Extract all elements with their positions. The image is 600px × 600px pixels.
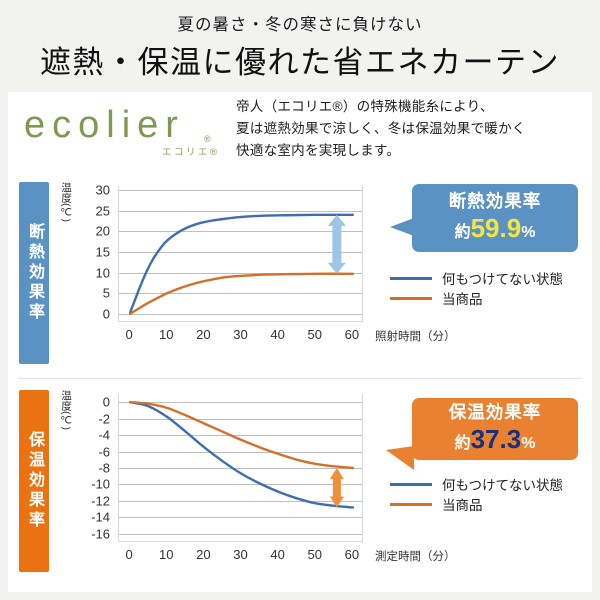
badge-pointer-icon [390,218,414,236]
legend-line-baseline-icon [390,483,432,486]
ecolier-logo: ecolier ® エコリエ® [22,100,227,160]
y-tick-label: -10 [76,477,110,492]
x-tick-label: 20 [196,547,210,562]
panel-insulation: 断熱効果率 温度(℃) 051015202530 0102030405060 照… [8,176,592,372]
x-tick-label: 10 [159,547,173,562]
insulation-y-ticks: 051015202530 [74,176,110,372]
y-tick-label: -2 [76,411,110,426]
brand-description-line-1: 帝人（エコリエ®）の特殊機能糸により、 [236,96,586,118]
panel-divider [18,378,582,379]
logo-registered-mark: ® [204,134,211,144]
x-tick-label: 50 [308,327,322,342]
y-tick-label: 30 [76,183,110,198]
legend-item-baseline: 何もつけてない状態 [390,268,563,288]
series-line [130,215,353,313]
brand-description-line-3: 快適な室内を実現します。 [236,140,586,162]
retention-y-ticks: 0-2-4-6-8-10-12-14-16 [74,384,110,580]
difference-arrow-icon [328,215,346,274]
legend-label-baseline: 何もつけてない状態 [442,474,563,494]
insulation-x-axis-title: 照射時間（分） [375,328,456,344]
page-title: 遮熱・保温に優れた省エネカーテン [40,37,560,82]
panel-retention: 保温効果率 温度(℃) 0-2-4-6-8-10-12-14-16 010203… [8,384,592,580]
y-tick-label: -14 [76,510,110,525]
tab-retention-label: 保温効果率 [26,431,42,531]
insulation-badge-prefix: 約 [455,224,471,241]
x-tick-label: 40 [270,547,284,562]
retention-x-axis-title: 測定時間（分） [375,548,456,564]
retention-x-ticks: 0102030405060 [118,547,363,565]
y-tick-label: 0 [76,395,110,410]
y-tick-label: 15 [76,244,110,259]
x-tick-label: 10 [159,327,173,342]
series-canvas [119,186,364,322]
legend-label-product: 当商品 [442,288,483,308]
retention-plot [118,394,363,542]
series-canvas [119,394,364,542]
retention-chart-area: 温度(℃) 0-2-4-6-8-10-12-14-16 010203040506… [60,384,592,580]
tab-insulation-label: 断熱効果率 [26,223,42,323]
legend-item-baseline: 何もつけてない状態 [390,474,563,494]
y-tick-label: -4 [76,428,110,443]
insulation-chart-area: 温度(℃) 051015202530 0102030405060 照射時間（分）… [60,176,592,372]
legend-line-baseline-icon [390,277,432,280]
insulation-badge: 断熱効果率 約59.9% [412,184,578,252]
content-card: ecolier ® エコリエ® 帝人（エコリエ®）の特殊機能糸により、 夏は遮熱… [8,92,592,592]
retention-badge-number: 37.3 [471,424,522,454]
retention-badge-prefix: 約 [455,435,471,452]
retention-legend: 何もつけてない状態 当商品 [390,474,563,514]
y-tick-label: 5 [76,286,110,301]
y-tick-label: 20 [76,224,110,239]
difference-arrow-icon [330,468,344,507]
logo-wordmark: ecolier [24,106,185,144]
series-line [130,402,353,507]
insulation-x-ticks: 0102030405060 [118,327,363,345]
x-tick-label: 20 [196,327,210,342]
header-subtitle: 夏の暑さ・冬の寒さに負けない [178,11,423,35]
x-tick-label: 0 [126,547,133,562]
insulation-plot [118,186,363,322]
tab-insulation: 断熱効果率 [19,182,49,364]
legend-label-baseline: 何もつけてない状態 [442,268,563,288]
insulation-badge-number: 59.9 [471,213,522,243]
y-tick-label: -8 [76,461,110,476]
logo-kana-label: エコリエ® [162,144,220,158]
legend-item-product: 当商品 [390,288,563,308]
insulation-badge-unit: % [521,224,535,241]
insulation-badge-title: 断熱効果率 [449,192,542,211]
series-line [130,274,353,314]
x-tick-label: 60 [345,547,359,562]
x-tick-label: 60 [345,327,359,342]
infographic-page: 夏の暑さ・冬の寒さに負けない 遮熱・保温に優れた省エネカーテン ecolier … [0,0,600,600]
retention-badge-unit: % [521,435,535,452]
x-tick-label: 0 [126,327,133,342]
insulation-legend: 何もつけてない状態 当商品 [390,268,563,308]
retention-badge: 保温効果率 約37.3% [412,398,578,460]
series-line [130,402,353,468]
legend-item-product: 当商品 [390,494,563,514]
y-tick-label: -6 [76,444,110,459]
x-tick-label: 30 [233,547,247,562]
y-tick-label: 10 [76,265,110,280]
brand-description: 帝人（エコリエ®）の特殊機能糸により、 夏は遮熱効果で涼しく、冬は保温効果で暖か… [236,96,586,162]
brand-description-line-2: 夏は遮熱効果で涼しく、冬は保温効果で暖かく [236,118,586,140]
insulation-y-axis-title: 温度(℃) [60,182,71,222]
x-tick-label: 50 [308,547,322,562]
badge-pointer-icon [386,446,414,470]
y-tick-label: -16 [76,526,110,541]
legend-label-product: 当商品 [442,494,483,514]
y-tick-label: -12 [76,493,110,508]
legend-line-product-icon [390,503,432,506]
retention-y-axis-title: 温度(℃) [60,390,71,430]
x-tick-label: 40 [270,327,284,342]
insulation-badge-value: 約59.9% [455,214,536,244]
retention-badge-title: 保温効果率 [449,403,542,422]
page-header: 夏の暑さ・冬の寒さに負けない 遮熱・保温に優れた省エネカーテン [0,0,600,92]
x-tick-label: 30 [233,327,247,342]
legend-line-product-icon [390,297,432,300]
tab-retention: 保温効果率 [19,390,49,572]
retention-badge-value: 約37.3% [455,425,536,455]
brand-row: ecolier ® エコリエ® 帝人（エコリエ®）の特殊機能糸により、 夏は遮熱… [8,92,592,174]
y-tick-label: 0 [76,306,110,321]
y-tick-label: 25 [76,203,110,218]
